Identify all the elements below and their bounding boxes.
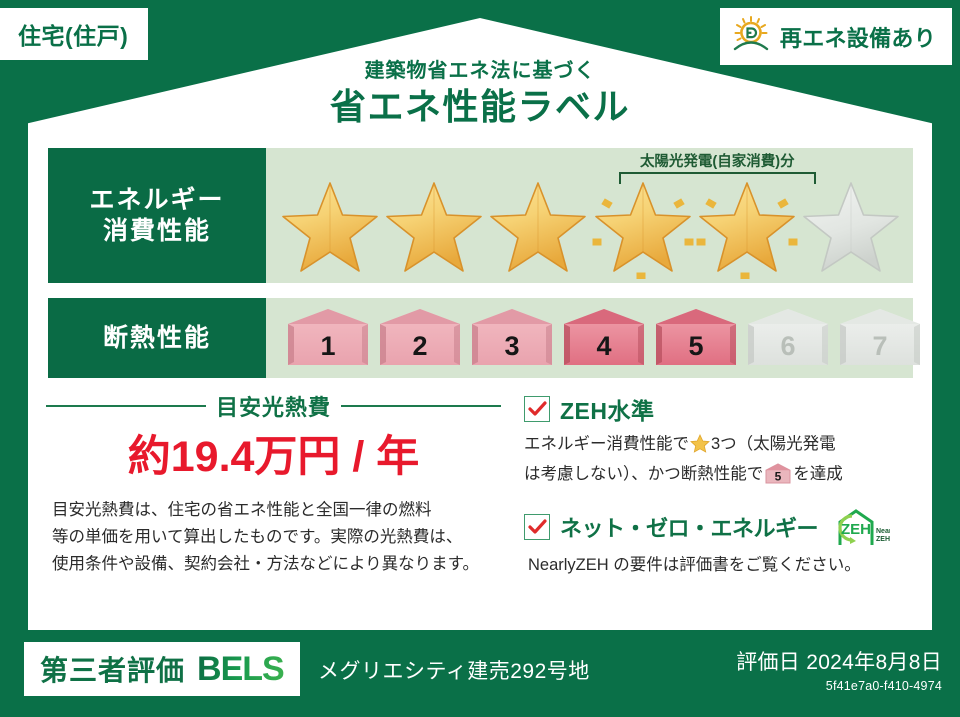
cost-note-line2: 等の単価を用いて算出したものです。実際の光熱費は、 — [52, 524, 495, 551]
utility-cost-title: 目安光熱費 — [216, 390, 331, 422]
label-main-title: 省エネ性能ラベル — [0, 84, 960, 129]
utility-cost-value: 約19.4万円 / 年 — [46, 434, 501, 481]
net-zero-energy-item: ネット・ゼロ・エネルギー ZEH Nearly ZEH NearlyZEH の要… — [524, 507, 924, 578]
net-zero-energy-title: ネット・ゼロ・エネルギー — [560, 511, 818, 543]
insulation-level-list: 1 2 3 4 5 — [266, 298, 913, 378]
label-footer: 第三者評価 BELS メグリエシティ建売292号地 評価日 2024年8月8日 … — [0, 630, 960, 717]
renewable-equipment-label: 再エネ設備あり — [780, 21, 936, 53]
insulation-performance-row: 断熱性能 1 2 3 — [48, 298, 913, 378]
bels-jp-label: 第三者評価 — [40, 649, 185, 689]
evaluation-info: 評価日 2024年8月8日 5f41e7a0-f410-4974 — [736, 646, 942, 693]
energy-performance-row: エネルギー 消費性能 太陽光発電(自家消費)分 — [48, 148, 913, 283]
svg-text:5: 5 — [775, 470, 782, 484]
insulation-level-6: 6 — [744, 307, 832, 369]
zeh-desc-part4: を達成 — [793, 465, 843, 483]
energy-star-track: 太陽光発電(自家消費)分 — [266, 148, 913, 283]
check-icon — [528, 401, 547, 417]
zeh-standard-title: ZEH水準 — [560, 392, 655, 426]
energy-star-1 — [278, 175, 382, 279]
cost-rule-left — [46, 405, 206, 407]
bels-certification-box: 第三者評価 BELS — [24, 642, 300, 696]
utility-cost-heading: 目安光熱費 — [46, 390, 501, 422]
star-icon — [690, 439, 710, 457]
utility-cost-note: 目安光熱費は、住宅の省エネ性能と全国一律の燃料 等の単価を用いて算出したものです… — [46, 497, 501, 577]
energy-label-line2: 消費性能 — [103, 216, 211, 247]
nearly-zeh-logo: ZEH Nearly ZEH — [832, 507, 890, 547]
zeh-desc-part1: エネルギー消費性能で — [524, 435, 689, 453]
svg-text:7: 7 — [872, 331, 887, 361]
bels-energy-label: 住宅(住戸) 再エネ設備あり — [0, 0, 960, 717]
solar-bracket-caption: 太陽光発電(自家消費)分 — [619, 150, 816, 171]
zeh-claims-block: ZEH水準 エネルギー消費性能で3つ（太陽光発電は考慮しない）、かつ断熱性能で5… — [524, 392, 924, 592]
insulation-label-line1: 断熱性能 — [103, 323, 211, 354]
renewable-equipment-badge: 再エネ設備あり — [720, 8, 952, 65]
energy-label-line1: エネルギー — [89, 185, 224, 216]
svg-text:5: 5 — [688, 331, 703, 361]
zeh-standard-description: エネルギー消費性能で3つ（太陽光発電は考慮しない）、かつ断熱性能で5を達成 — [524, 431, 924, 493]
svg-text:6: 6 — [780, 331, 795, 361]
check-icon — [528, 519, 547, 535]
evaluation-id: 5f41e7a0-f410-4974 — [736, 679, 942, 693]
insulation-level-5: 5 — [652, 307, 740, 369]
dwelling-type-label: 住宅(住戸) — [18, 23, 128, 49]
dwelling-type-badge: 住宅(住戸) — [0, 8, 148, 60]
insulation-level-inline-icon: 5 — [765, 470, 791, 488]
insulation-level-7: 7 — [836, 307, 924, 369]
zeh-logo-text: ZEH — [841, 521, 871, 538]
net-zero-energy-description: NearlyZEH の要件は評価書をご覧ください。 — [524, 552, 924, 578]
energy-star-3 — [486, 175, 590, 279]
svg-text:3: 3 — [504, 331, 519, 361]
zeh-standard-heading: ZEH水準 — [524, 392, 924, 426]
insulation-level-3: 3 — [468, 307, 556, 369]
label-title-block: 建築物省エネ法に基づく 省エネ性能ラベル — [0, 60, 960, 129]
energy-star-2 — [382, 175, 486, 279]
cost-note-line1: 目安光熱費は、住宅の省エネ性能と全国一律の燃料 — [52, 497, 495, 524]
zeh-desc-part2: 3つ（太陽光発電 — [711, 435, 836, 453]
nearly-zeh-sub-line2: ZEH — [876, 536, 890, 543]
zeh-standard-checkbox — [524, 396, 550, 422]
bels-logo-text: BELS — [197, 650, 284, 689]
energy-star-list — [266, 175, 913, 279]
utility-cost-block: 目安光熱費 約19.4万円 / 年 目安光熱費は、住宅の省エネ性能と全国一律の燃… — [46, 390, 501, 577]
net-zero-energy-checkbox — [524, 514, 550, 540]
solar-bracket — [619, 172, 816, 184]
property-name: メグリエシティ建売292号地 — [318, 655, 590, 685]
evaluation-date: 評価日 2024年8月8日 — [736, 646, 942, 676]
cost-note-line3: 使用条件や設備、契約会社・方法などにより異なります。 — [52, 551, 495, 578]
svg-text:1: 1 — [320, 331, 335, 361]
insulation-level-2: 2 — [376, 307, 464, 369]
energy-performance-label: エネルギー 消費性能 — [48, 148, 266, 283]
net-zero-energy-heading: ネット・ゼロ・エネルギー ZEH Nearly ZEH — [524, 507, 924, 547]
energy-star-4 — [591, 175, 695, 279]
energy-star-6 — [799, 175, 903, 279]
energy-star-5 — [695, 175, 799, 279]
insulation-level-4: 4 — [560, 307, 648, 369]
nearly-zeh-sub-line1: Nearly — [876, 528, 890, 535]
insulation-level-track: 1 2 3 4 5 — [266, 298, 913, 378]
svg-text:4: 4 — [596, 331, 611, 361]
cost-rule-right — [341, 405, 501, 407]
insulation-level-1: 1 — [284, 307, 372, 369]
zeh-desc-part3: は考慮しない）、かつ断熱性能で — [524, 465, 763, 483]
insulation-performance-label: 断熱性能 — [48, 298, 266, 378]
svg-text:2: 2 — [412, 331, 427, 361]
zeh-standard-item: ZEH水準 エネルギー消費性能で3つ（太陽光発電は考慮しない）、かつ断熱性能で5… — [524, 392, 924, 493]
solar-sun-icon — [732, 15, 772, 58]
